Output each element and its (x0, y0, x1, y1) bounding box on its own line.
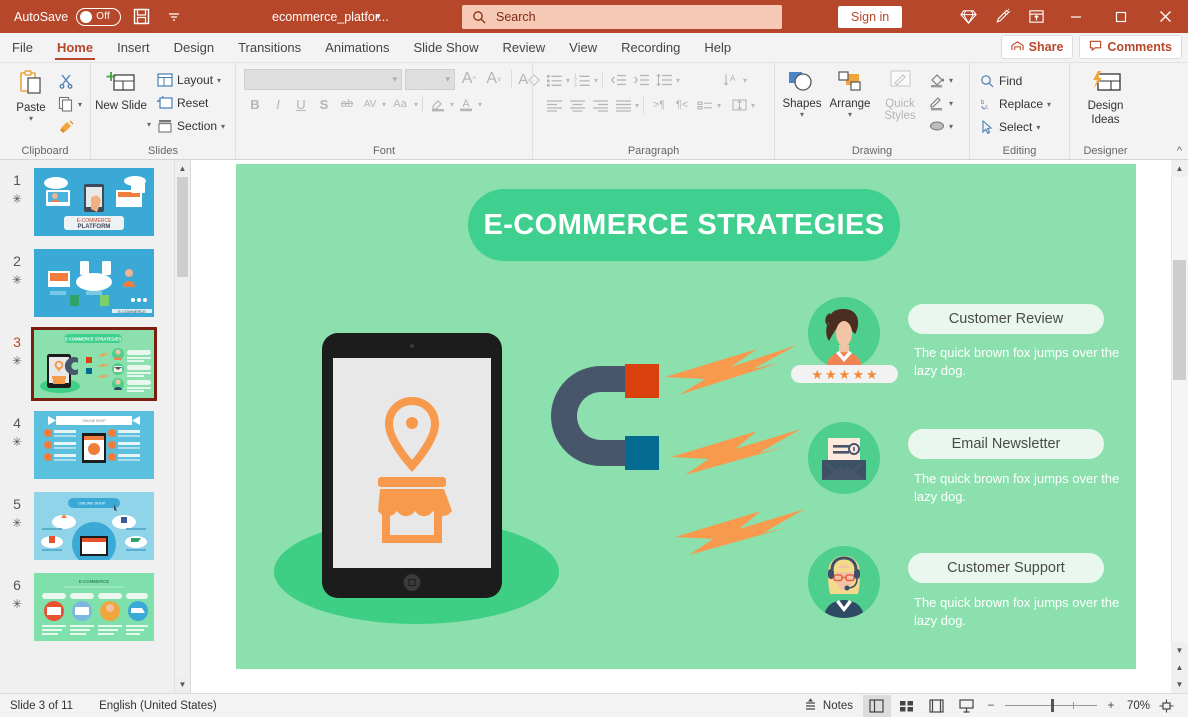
layout-caret-icon[interactable]: ▾ (217, 76, 221, 85)
change-case-button[interactable]: Aa (387, 93, 413, 115)
shape-effects-icon[interactable] (925, 115, 949, 137)
email-envelope-icon (808, 422, 880, 494)
title-bar-right-controls (951, 0, 1188, 33)
animation-star-icon: ✳ (0, 514, 34, 532)
star-icon: ★ (866, 368, 878, 381)
design-ideas-label-line2: Ideas (1091, 114, 1119, 126)
list-item[interactable]: 2 ✳ (0, 249, 174, 317)
language-indicator[interactable]: English (United States) (99, 700, 217, 712)
shape-fill-icon[interactable] (925, 69, 949, 91)
clipboard-group-label: Clipboard (4, 143, 86, 159)
next-slide-button[interactable]: ▼ (1171, 676, 1188, 693)
ribbon-tabs-right: Share Comments (1001, 35, 1182, 59)
tab-design[interactable]: Design (162, 36, 226, 62)
minimize-button[interactable] (1053, 0, 1098, 33)
animation-star-icon: ✳ (0, 190, 34, 208)
save-icon[interactable] (128, 4, 154, 30)
new-slide-label: New Slide (95, 100, 147, 112)
slide-number: 5 ✳ (0, 492, 34, 532)
autosave-label: AutoSave (14, 10, 68, 24)
page-title: E-COMMERCE STRATEGIES (484, 209, 885, 242)
tab-file[interactable]: File (0, 36, 45, 62)
animation-star-icon: ✳ (0, 595, 34, 613)
customize-quick-access-icon[interactable] (161, 4, 187, 30)
main-area: 1 ✳ (0, 160, 1188, 693)
strategy-label: Customer Review (949, 311, 1063, 327)
slide-thumbnail-6: E-COMMERCE (34, 573, 154, 641)
font-group-label: Font (240, 143, 528, 159)
strategy-label-pill[interactable]: Email Newsletter (908, 429, 1104, 459)
svg-text:ONLINE SHOP: ONLINE SHOP (78, 501, 106, 506)
slide-thumbnail-2: E-COMMERCE (34, 249, 154, 317)
comment-icon (1089, 39, 1102, 55)
text-shadow-button[interactable]: S (313, 93, 335, 115)
thumbnail-scrollbar-thumb[interactable] (177, 177, 188, 277)
tab-view[interactable]: View (557, 36, 609, 62)
notes-icon (805, 698, 819, 714)
svg-text:PLATFORM: PLATFORM (78, 224, 111, 230)
text-direction-button[interactable]: A (720, 69, 742, 91)
decrease-indent-button[interactable] (607, 69, 629, 91)
canvas-scroll-up-arrow[interactable]: ▲ (1171, 160, 1188, 177)
ribbon-tabs: File Home Insert Design Transitions Anim… (0, 33, 1188, 63)
zoom-slider[interactable] (1005, 705, 1097, 706)
slide-canvas[interactable]: E-COMMERCE STRATEGIES (236, 164, 1136, 669)
star-icon: ★ (839, 368, 851, 381)
text-highlight-caret-icon[interactable]: ▾ (450, 100, 454, 109)
align-text-caret-icon[interactable]: ▾ (751, 101, 755, 110)
autosave-state-label: Off (96, 11, 110, 22)
cut-icon[interactable] (54, 70, 78, 92)
section-caret-icon[interactable]: ▾ (221, 122, 225, 131)
svg-text:A: A (462, 98, 470, 110)
zoom-slider-tick (1073, 702, 1074, 709)
copy-caret-icon[interactable]: ▾ (78, 100, 82, 109)
star-icon: ★ (825, 368, 837, 381)
paste-label: Paste (16, 102, 45, 114)
thumbnail-scrollbar[interactable]: ▲ ▼ (174, 160, 190, 693)
shape-fill-caret-icon[interactable]: ▾ (949, 76, 953, 85)
shop-pin-icon (352, 383, 472, 543)
tab-animations[interactable]: Animations (313, 36, 401, 62)
paste-button[interactable]: Paste ▾ (4, 68, 54, 123)
bold-button[interactable]: B (244, 93, 266, 115)
slide-number: 6 ✳ (0, 573, 34, 613)
animation-star-icon: ✳ (0, 352, 34, 370)
strategy-description: The quick brown fox jumps over the lazy … (914, 594, 1124, 630)
reset-label: Reset (177, 96, 208, 110)
find-label: Find (999, 74, 1022, 88)
replace-button[interactable]: bc Replace ▾ (976, 93, 1055, 115)
paste-caret-icon[interactable]: ▾ (29, 114, 33, 123)
select-caret-icon[interactable]: ▾ (1036, 123, 1040, 132)
quick-styles-button[interactable]: Quick Styles (875, 68, 925, 122)
document-title[interactable]: ecommerce_platfor... (272, 10, 389, 24)
close-button[interactable] (1143, 0, 1188, 33)
pen-icon[interactable] (985, 4, 1019, 30)
ribbon-group-paragraph: ▾ 123 ▾ ▾ A ▾ (532, 63, 774, 159)
ribbon-display-options-icon[interactable] (1019, 4, 1053, 30)
strategy-label-pill[interactable]: Customer Review (908, 304, 1104, 334)
thumbnail-scroll-down-arrow[interactable]: ▼ (175, 676, 190, 693)
animation-star-icon: ✳ (0, 271, 34, 289)
tab-insert[interactable]: Insert (105, 36, 162, 62)
format-painter-icon[interactable] (54, 116, 78, 138)
share-icon (1011, 39, 1024, 55)
slide-thumbnail-1: E-COMMERCE PLATFORM (34, 168, 154, 236)
diamond-icon[interactable] (951, 4, 985, 30)
thumbnail-frame[interactable]: E-COMMERCE STRATEGIES (34, 330, 154, 398)
strategy-description: The quick brown fox jumps over the lazy … (914, 470, 1124, 506)
tablet-camera (410, 344, 414, 348)
collapse-ribbon-icon[interactable]: ^ (1177, 145, 1182, 157)
notes-label: Notes (823, 700, 853, 712)
svg-text:E-COMMERCE: E-COMMERCE (118, 309, 146, 314)
ribbon-group-drawing: Shapes ▾ Arrange ▾ Quick Styles ▾ (774, 63, 969, 159)
rtl-direction-button[interactable]: ¶< (671, 94, 693, 116)
font-color-button[interactable]: A (455, 93, 477, 115)
slide-number-text: 3 (13, 334, 21, 350)
ribbon-group-clipboard: Paste ▾ ▾ Clipboard (0, 63, 90, 159)
align-center-button[interactable] (566, 94, 588, 116)
canvas-scrollbar[interactable]: ▲ ▼ ▲ ▼ (1171, 160, 1188, 693)
find-button[interactable]: Find (976, 70, 1055, 92)
tab-help[interactable]: Help (692, 36, 743, 62)
title-bar: AutoSave Off ecommerce_platfor... ▾ Sear… (0, 0, 1188, 33)
line-spacing-button[interactable] (653, 69, 675, 91)
select-label: Select (999, 120, 1032, 134)
align-left-button[interactable] (543, 94, 565, 116)
ribbon-group-editing: Find bc Replace ▾ Select ▾ Editing (969, 63, 1069, 159)
numbering-button[interactable]: 123 (571, 69, 593, 91)
share-button[interactable]: Share (1001, 35, 1074, 59)
ribbon-group-designer: Design Ideas Designer (1069, 63, 1141, 159)
italic-button[interactable]: I (267, 93, 289, 115)
tablet-screen (333, 358, 491, 568)
ribbon-group-slides: New Slide ▾ Layout ▾ Reset Section ▾ (90, 63, 235, 159)
reading-view-icon[interactable] (923, 695, 951, 717)
section-button[interactable]: Section ▾ (153, 115, 229, 137)
list-item[interactable]: 3 ✳ E-COMMERCE STRATEGIES (0, 330, 174, 398)
svg-text:E-COMMERCE STRATEGIES: E-COMMERCE STRATEGIES (65, 337, 122, 342)
notes-button[interactable]: Notes (797, 698, 861, 714)
increase-font-size-button[interactable]: A^ (458, 68, 480, 90)
share-label: Share (1029, 40, 1064, 54)
slide-number-text: 6 (13, 577, 21, 593)
animation-star-icon: ✳ (0, 433, 34, 451)
slide-canvas-pane: E-COMMERCE STRATEGIES (191, 160, 1188, 693)
svg-text:c: c (985, 105, 988, 111)
status-bar-left: Slide 3 of 11 English (United States) (0, 700, 217, 712)
slide-thumbnail-pane: 1 ✳ (0, 160, 191, 693)
shapes-caret-icon[interactable]: ▾ (800, 110, 804, 119)
smartart-caret-icon[interactable]: ▾ (717, 101, 721, 110)
convert-smartart-button[interactable] (694, 94, 716, 116)
sign-in-button[interactable]: Sign in (838, 6, 902, 28)
zoom-slider-handle[interactable] (1051, 699, 1054, 712)
customer-review-avatar-icon (808, 297, 880, 369)
shape-outline-icon[interactable] (925, 92, 949, 114)
copy-icon[interactable] (54, 93, 78, 115)
arrange-label: Arrange (830, 98, 871, 110)
tablet-home-button (404, 574, 421, 591)
zoom-in-button[interactable]: + (1103, 695, 1119, 717)
editing-group-label: Editing (974, 143, 1065, 159)
section-label: Section (177, 119, 217, 133)
align-right-button[interactable] (589, 94, 611, 116)
shape-effects-caret-icon[interactable]: ▾ (949, 122, 953, 131)
change-case-caret-icon[interactable]: ▾ (414, 100, 418, 109)
star-icon: ★ (852, 368, 864, 381)
text-highlight-color-button[interactable] (427, 93, 449, 115)
shape-outline-caret-icon[interactable]: ▾ (949, 99, 953, 108)
thumbnail-frame[interactable]: ONLINE SHOP (34, 411, 154, 479)
list-item[interactable]: 1 ✳ (0, 168, 174, 236)
search-placeholder-text: Search (496, 10, 536, 24)
replace-label: Replace (999, 97, 1043, 111)
align-caret-icon[interactable]: ▾ (635, 101, 639, 110)
thumbnail-frame[interactable]: E-COMMERCE PLATFORM (34, 168, 154, 236)
shapes-button[interactable]: Shapes ▾ (779, 68, 825, 119)
thumbnail-frame[interactable]: E-COMMERCE (34, 249, 154, 317)
replace-caret-icon[interactable]: ▾ (1047, 100, 1051, 109)
align-text-button[interactable] (728, 94, 750, 116)
ribbon: Paste ▾ ▾ Clipboard (0, 63, 1188, 160)
slide-sorter-icon[interactable] (893, 695, 921, 717)
slide-thumbnail-5: ONLINE SHOP (34, 492, 154, 560)
text-direction-caret-icon[interactable]: ▾ (743, 76, 747, 85)
canvas-scrollbar-thumb[interactable] (1173, 260, 1186, 380)
reset-button[interactable]: Reset (153, 92, 229, 114)
slide-number-text: 2 (13, 253, 21, 269)
customer-support-avatar-icon (808, 546, 880, 618)
comments-label: Comments (1107, 40, 1172, 54)
increase-indent-button[interactable] (630, 69, 652, 91)
strikethrough-button[interactable]: ab (336, 93, 358, 115)
design-ideas-button[interactable]: Design Ideas (1076, 68, 1136, 126)
numbering-caret-icon[interactable]: ▾ (594, 76, 598, 85)
line-spacing-caret-icon[interactable]: ▾ (676, 76, 680, 85)
strategy-label: Customer Support (947, 560, 1065, 576)
underline-button[interactable]: U (290, 93, 312, 115)
drawing-group-label: Drawing (779, 143, 965, 159)
strategy-description: The quick brown fox jumps over the lazy … (914, 344, 1124, 380)
font-size-combo[interactable]: ▾ (405, 69, 455, 90)
slide-indicator[interactable]: Slide 3 of 11 (10, 700, 73, 712)
bullets-caret-icon[interactable]: ▾ (566, 76, 570, 85)
search-input[interactable]: Search (462, 5, 782, 29)
arrange-button[interactable]: Arrange ▾ (825, 68, 875, 119)
columns-button[interactable]: >¶ (648, 94, 670, 116)
paragraph-group-label: Paragraph (537, 143, 770, 159)
svg-text:E-COMMERCE: E-COMMERCE (79, 579, 110, 584)
autosave-toggle[interactable]: Off (76, 8, 121, 26)
search-icon (472, 10, 486, 24)
normal-view-icon[interactable] (863, 695, 891, 717)
star-icon: ★ (811, 368, 823, 381)
strategy-label-pill[interactable]: Customer Support (908, 553, 1104, 583)
slide-number: 2 ✳ (0, 249, 34, 289)
layout-button[interactable]: Layout ▾ (153, 69, 229, 91)
slide-thumbnail-list: 1 ✳ (0, 160, 174, 693)
tab-home[interactable]: Home (45, 36, 105, 62)
slide-thumbnail-3: E-COMMERCE STRATEGIES (34, 330, 154, 398)
list-item[interactable]: 6 ✳ E-COMMERCE (0, 573, 174, 641)
tab-review[interactable]: Review (491, 36, 558, 62)
previous-slide-button[interactable]: ▲ (1171, 659, 1188, 676)
autosave-toggle-knob (80, 11, 92, 23)
strategy-label: Email Newsletter (952, 436, 1061, 452)
shapes-label: Shapes (782, 98, 821, 110)
svg-text:A: A (730, 74, 736, 83)
status-bar: Slide 3 of 11 English (United States) No… (0, 693, 1188, 717)
slide-title-shape[interactable]: E-COMMERCE STRATEGIES (468, 189, 900, 261)
slide-show-icon[interactable] (953, 695, 981, 717)
new-slide-button[interactable]: New Slide (95, 68, 147, 112)
arrange-caret-icon[interactable]: ▾ (848, 110, 852, 119)
slide-thumbnail-4: ONLINE SHOP (34, 411, 154, 479)
list-item[interactable]: 5 ✳ ONLINE SHOP (0, 492, 174, 560)
designer-group-label: Designer (1074, 143, 1137, 159)
thumbnail-frame[interactable]: ONLINE SHOP (34, 492, 154, 560)
slide-number: 4 ✳ (0, 411, 34, 451)
list-item[interactable]: 4 ✳ ONLINE SHOP (0, 411, 174, 479)
slide-number-text: 4 (13, 415, 21, 431)
online-shop-icon[interactable] (322, 333, 502, 598)
zoom-level-label[interactable]: 70% (1127, 700, 1150, 712)
quick-styles-label-line1: Quick Styles (875, 98, 925, 122)
bullets-button[interactable] (543, 69, 565, 91)
tab-transitions[interactable]: Transitions (226, 36, 313, 62)
tab-recording[interactable]: Recording (609, 36, 692, 62)
maximize-button[interactable] (1098, 0, 1143, 33)
justify-button[interactable] (612, 94, 634, 116)
thumbnail-scroll-up-arrow[interactable]: ▲ (175, 160, 190, 177)
slide-number-text: 1 (13, 172, 21, 188)
svg-text:ONLINE SHOP: ONLINE SHOP (82, 419, 106, 423)
slide-number: 3 ✳ (0, 330, 34, 370)
layout-label: Layout (177, 73, 213, 87)
slide-number: 1 ✳ (0, 168, 34, 208)
decrease-font-size-button[interactable]: A˅ (483, 68, 505, 90)
character-spacing-button[interactable]: AV (359, 93, 381, 115)
document-title-caret[interactable]: ▾ (376, 11, 381, 22)
zoom-out-button[interactable]: − (983, 695, 999, 717)
fit-to-window-icon[interactable] (1152, 695, 1180, 717)
rating-stars: ★ ★ ★ ★ ★ (791, 365, 898, 383)
slides-group-label: Slides (95, 143, 231, 159)
ribbon-group-font: ▾ ▾ A^ A˅ A◇ B I U S ab AV ▾ Aa ▾ (235, 63, 532, 159)
new-slide-caret-icon[interactable]: ▾ (147, 120, 151, 143)
svg-text:3: 3 (574, 83, 577, 87)
slide-number-text: 5 (13, 496, 21, 512)
status-bar-right: Notes − + 70% (797, 695, 1180, 717)
magnet-icon[interactable] (539, 354, 669, 514)
comments-button[interactable]: Comments (1079, 35, 1182, 59)
tab-slide-show[interactable]: Slide Show (401, 36, 490, 62)
thumbnail-frame[interactable]: E-COMMERCE (34, 573, 154, 641)
character-spacing-caret-icon[interactable]: ▾ (382, 100, 386, 109)
font-name-combo[interactable]: ▾ (244, 69, 402, 90)
font-color-caret-icon[interactable]: ▾ (478, 100, 482, 109)
design-ideas-label-line1: Design (1088, 100, 1124, 112)
select-button[interactable]: Select ▾ (976, 116, 1055, 138)
canvas-scroll-down-arrow[interactable]: ▼ (1171, 642, 1188, 659)
